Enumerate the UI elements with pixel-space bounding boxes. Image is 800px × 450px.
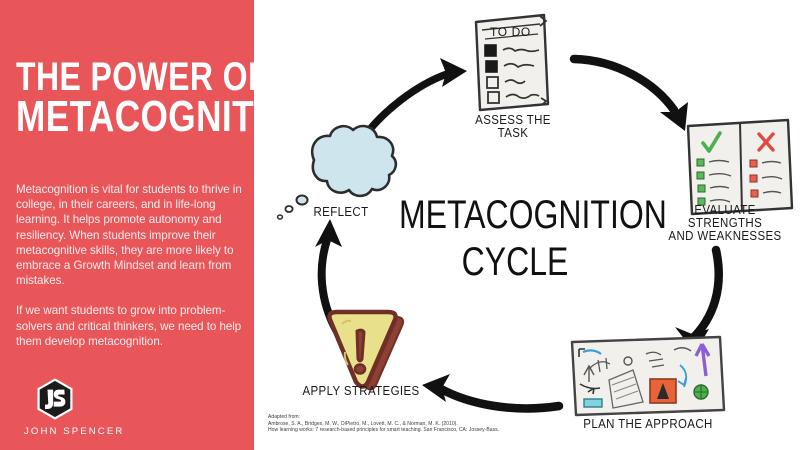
js-hexagon-logo-icon	[35, 377, 75, 421]
arrow-assess-to-evaluate	[574, 59, 688, 131]
node-label-evaluate-strengths: EVALUATE STRENGTHS AND WEAKNESSES	[656, 204, 794, 243]
brand-name-label: JOHN SPENCER	[24, 426, 144, 437]
page-title-line-1: THE POWER OF	[16, 58, 208, 96]
page-title: THE POWER OF METACOGNITION	[16, 58, 208, 139]
pros-cons-list-icon	[688, 120, 792, 214]
citation-line-1: Adapted from:	[268, 414, 598, 421]
diagram-center-title: METACOGNITION CYCLE	[399, 192, 631, 286]
page-title-line-2: METACOGNITION	[16, 96, 208, 138]
arrow-reflect-to-assess	[364, 58, 467, 137]
citation-line-3: How learning works: 7 research-based pri…	[268, 427, 598, 434]
arrow-plan-to-apply	[422, 374, 559, 408]
whiteboard-icon	[572, 337, 724, 415]
metacognition-cycle-diagram: TO DO	[254, 0, 800, 450]
citation-block: Adapted from: Ambrose, S. A., Bridges, M…	[268, 414, 598, 434]
warning-triangle-icon	[329, 312, 403, 390]
body-paragraph-2: If we want students to grow into problem…	[16, 303, 254, 349]
node-label-reflect: REFLECT	[290, 206, 391, 219]
node-label-assess-the-task: ASSESS THE TASK	[459, 114, 568, 140]
left-text-panel: THE POWER OF METACOGNITION Metacognition…	[0, 0, 254, 450]
node-label-apply-strategies: APPLY STRATEGIES	[296, 385, 427, 398]
todo-list-icon: TO DO	[476, 15, 548, 110]
intro-body-copy: Metacognition is vital for students to t…	[16, 182, 254, 349]
brand-logo: JOHN SPENCER	[24, 377, 144, 437]
citation-line-2: Ambrose, S. A., Bridges, M. W., DiPietro…	[268, 421, 598, 428]
svg-text:TO DO: TO DO	[490, 25, 531, 39]
center-title-line-1: METACOGNITION	[399, 192, 631, 239]
center-title-line-2: CYCLE	[399, 239, 631, 286]
infographic-poster: THE POWER OF METACOGNITION Metacognition…	[0, 0, 800, 450]
body-paragraph-1: Metacognition is vital for students to t…	[16, 182, 254, 288]
